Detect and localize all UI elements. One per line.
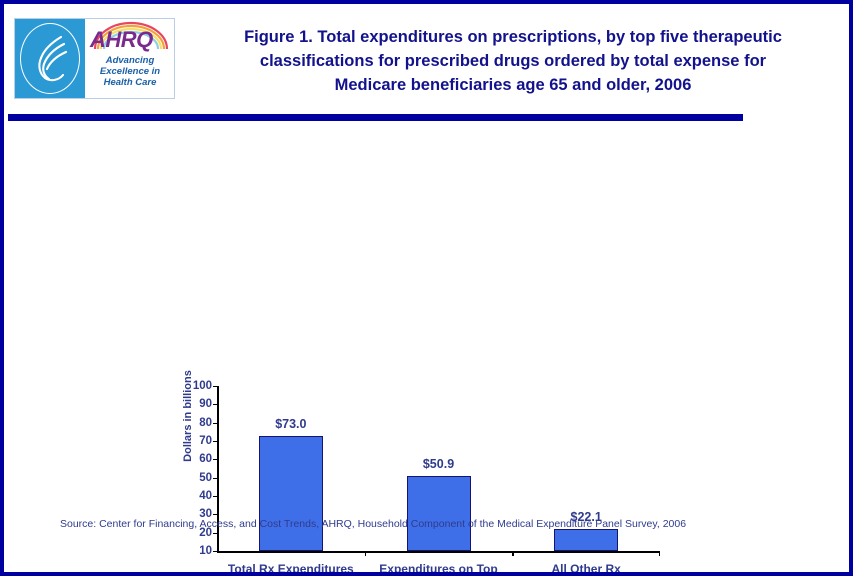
figure-title-line-1: Figure 1. Total expenditures on prescrip… <box>188 25 838 49</box>
bar-value-label: $50.9 <box>423 457 454 471</box>
y-tick-mark <box>213 459 217 460</box>
header-divider-rule <box>8 114 743 121</box>
source-note: Source: Center for Financing, Access, an… <box>60 518 686 530</box>
x-axis-divider <box>365 551 367 556</box>
hhs-seal-icon <box>15 19 85 98</box>
y-tick-mark <box>213 404 217 405</box>
y-tick-label: 50 <box>199 472 212 484</box>
y-tick-mark <box>213 478 217 479</box>
y-tick-label: 40 <box>199 490 212 502</box>
ahrq-tagline-line-1: Advancing <box>85 55 174 66</box>
x-axis-end-tick <box>659 551 661 556</box>
header-band: AHRQ Advancing Excellence in Health Care… <box>8 8 849 109</box>
y-tick-label: 10 <box>199 545 212 557</box>
ahrq-tagline-line-3: Health Care <box>85 77 174 88</box>
bar <box>554 529 618 551</box>
bar <box>407 476 471 551</box>
ahrq-tagline-line-2: Excellence in <box>85 66 174 77</box>
y-tick-mark <box>213 496 217 497</box>
y-tick-mark <box>213 533 217 534</box>
category-label-line: Total Rx Expenditures <box>211 561 371 576</box>
y-tick-mark <box>213 514 217 515</box>
bar <box>259 436 323 552</box>
ahrq-hhs-logo: AHRQ Advancing Excellence in Health Care <box>14 18 175 99</box>
category-label: Total Rx Expenditures <box>211 561 371 576</box>
ahrq-logo-text: AHRQ <box>90 29 172 51</box>
y-tick-label: 70 <box>199 435 212 447</box>
category-label-line: Expenditures on Top <box>359 561 519 576</box>
category-label-line: All Other Rx <box>506 561 666 576</box>
y-tick-mark <box>213 551 217 552</box>
figure-title: Figure 1. Total expenditures on prescrip… <box>188 25 838 97</box>
figure-title-line-3: Medicare beneficiaries age 65 and older,… <box>188 73 838 97</box>
figure-page: AHRQ Advancing Excellence in Health Care… <box>0 0 853 576</box>
y-tick-label: 100 <box>193 380 212 392</box>
y-axis-title: Dollars in billions <box>182 346 194 486</box>
figure-title-line-2: classifications for prescribed drugs ord… <box>188 49 838 73</box>
ahrq-tagline: Advancing Excellence in Health Care <box>85 55 174 88</box>
ahrq-wordmark-block: AHRQ Advancing Excellence in Health Care <box>85 19 174 98</box>
x-axis-line <box>217 551 660 553</box>
y-tick-label: 90 <box>199 398 212 410</box>
category-label: All Other RxExpenditures <box>506 561 666 576</box>
y-tick-label: 60 <box>199 453 212 465</box>
x-axis-divider <box>512 551 514 556</box>
bar-value-label: $73.0 <box>275 417 306 431</box>
y-tick-mark <box>213 386 217 387</box>
y-tick-mark <box>213 423 217 424</box>
hhs-eagle-icon <box>31 33 71 85</box>
category-label: Expenditures on Topfive TCI Rx <box>359 561 519 576</box>
y-tick-mark <box>213 441 217 442</box>
y-tick-label: 80 <box>199 417 212 429</box>
chart-canvas: Dollars in billions 10090807060504030201… <box>4 134 853 504</box>
